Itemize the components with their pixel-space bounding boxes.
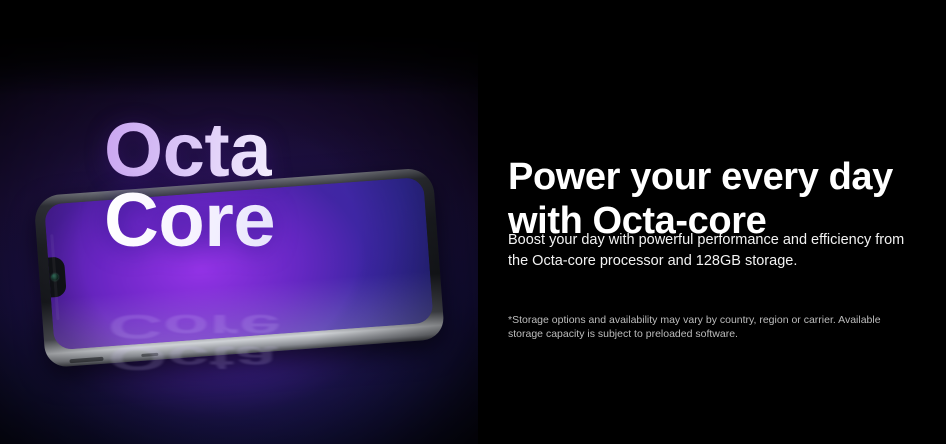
product-visual-panel: Octa Core Octa Core — [0, 0, 478, 444]
wordmark-reflection-line1: Octa — [108, 342, 408, 373]
wordmark-reflection-line2: Core — [108, 310, 408, 341]
headline-line-1: Power your every day — [508, 155, 918, 199]
wordmark-line-octa: Octa — [104, 116, 404, 186]
visual-top-fade — [0, 0, 478, 96]
promo-banner: Octa Core Octa Core Power your every day… — [0, 0, 946, 444]
copy-panel: Power your every day with Octa-core Boos… — [478, 0, 946, 444]
body-description: Boost your day with powerful performance… — [508, 230, 908, 272]
wordmark-line-core: Core — [104, 186, 404, 256]
wordmark-reflection: Octa Core — [108, 310, 408, 373]
octa-core-wordmark: Octa Core — [104, 116, 404, 256]
legal-disclaimer: *Storage options and availability may va… — [508, 313, 908, 343]
